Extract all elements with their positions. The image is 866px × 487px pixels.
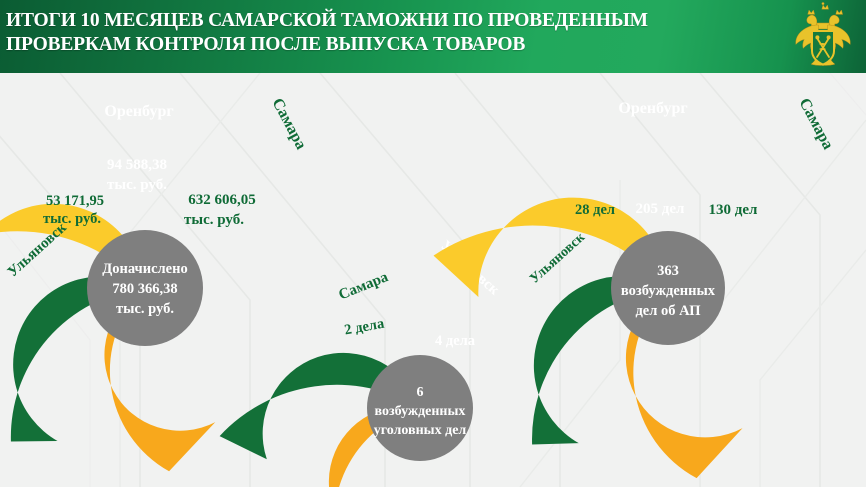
additional-charges-chart: Ульяновск 53 171,95 тыс. руб. Оренбург 9… — [0, 73, 300, 413]
wedge-orenburg-text: Оренбург 94 588,38 тыс. руб. — [104, 103, 173, 193]
value-ulyanovsk: 53 171,95 — [46, 193, 104, 209]
value-samara: 130 дел — [709, 202, 758, 218]
hub-line-2: 780 366,38 — [112, 281, 177, 297]
value-ulyanovsk: 28 дел — [575, 202, 615, 218]
wedge-samara-text: Самара 2 дела — [336, 269, 390, 338]
city-label-orenburg: Оренбург — [618, 100, 687, 117]
unit-orenburg: тыс. руб. — [107, 177, 167, 193]
russian-customs-eagle-emblem — [788, 1, 858, 71]
wedge-samara-text: Самара 130 дел — [709, 96, 837, 218]
infographic-page: ИТОГИ 10 МЕСЯЦЕВ САМАРСКОЙ ТАМОЖНИ ПО ПР… — [0, 0, 866, 487]
city-label-ulyanovsk: Ульяновск — [527, 229, 588, 286]
hub-line-2: возбужденных — [375, 404, 466, 419]
hub-line-3: дел об АП — [635, 303, 700, 319]
hub-additional-charges[interactable]: Доначислено 780 366,38 тыс. руб. — [87, 230, 203, 346]
hub-line-3: уголовных дел — [374, 423, 467, 438]
administrative-cases-chart: Ульяновск 28 дел Оренбург 205 дел Самара… — [505, 73, 866, 413]
hub-criminal-cases[interactable]: 6 возбужденных уголовных дел — [367, 355, 473, 461]
value-samara: 2 дела — [343, 316, 386, 339]
value-ulyanovsk: 4 дела — [435, 333, 476, 349]
wedge-orenburg-text: Оренбург 205 дел — [618, 100, 687, 217]
hub-line-3: тыс. руб. — [116, 301, 174, 317]
value-orenburg: 94 588,38 — [107, 157, 167, 173]
unit-ulyanovsk: тыс. руб. — [43, 211, 101, 227]
value-orenburg: 205 дел — [636, 201, 685, 217]
city-label-samara: Самара — [795, 96, 836, 153]
unit-samara: тыс. руб. — [184, 212, 244, 228]
page-title: ИТОГИ 10 МЕСЯЦЕВ САМАРСКОЙ ТАМОЖНИ ПО ПР… — [6, 9, 806, 56]
header-banner: ИТОГИ 10 МЕСЯЦЕВ САМАРСКОЙ ТАМОЖНИ ПО ПР… — [0, 0, 866, 73]
city-label-samara: Самара — [336, 269, 390, 303]
city-label-orenburg: Оренбург — [104, 103, 173, 120]
hub-administrative-cases[interactable]: 363 возбужденных дел об АП — [611, 231, 725, 345]
wedge-samara-text: Самара 632 606,05 тыс. руб. — [184, 96, 309, 228]
hub-line-1: 6 — [417, 385, 424, 400]
hub-line-2: возбужденных — [621, 283, 716, 299]
hub-line-1: Доначислено — [102, 261, 187, 277]
value-samara: 632 606,05 — [188, 192, 256, 208]
hub-line-1: 363 — [657, 263, 679, 279]
